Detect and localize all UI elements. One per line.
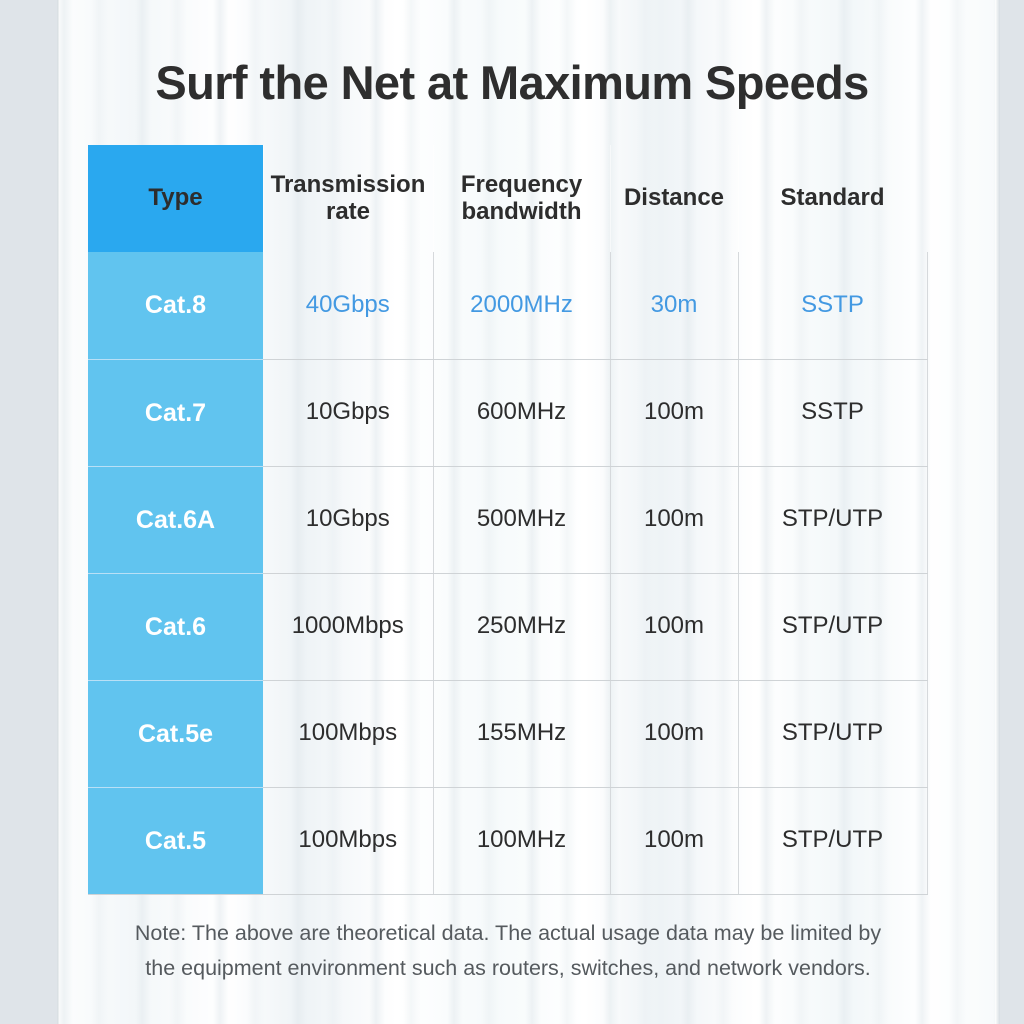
cell-frequency-bandwidth: 250MHz — [433, 573, 610, 680]
footnote: Note: The above are theoretical data. Th… — [88, 916, 928, 987]
column-header-distance: Distance — [610, 145, 738, 252]
cell-transmission-rate: 100Mbps — [263, 680, 433, 787]
cell-distance: 30m — [610, 252, 738, 359]
cell-type: Cat.7 — [88, 359, 263, 466]
cell-type: Cat.6A — [88, 466, 263, 573]
cable-spec-table: Type Transmission rate Frequency bandwid… — [88, 145, 928, 895]
cell-frequency-bandwidth: 2000MHz — [433, 252, 610, 359]
table-row: Cat.5 100Mbps 100MHz 100m STP/UTP — [88, 787, 927, 894]
cell-standard: STP/UTP — [738, 680, 927, 787]
footnote-line-2: the equipment environment such as router… — [88, 951, 928, 986]
table-row: Cat.8 40Gbps 2000MHz 30m SSTP — [88, 252, 927, 359]
cell-distance: 100m — [610, 359, 738, 466]
cell-standard: STP/UTP — [738, 466, 927, 573]
table-row: Cat.6A 10Gbps 500MHz 100m STP/UTP — [88, 466, 927, 573]
cell-distance: 100m — [610, 466, 738, 573]
cell-standard: STP/UTP — [738, 787, 927, 894]
column-header-type: Type — [88, 145, 263, 252]
cell-transmission-rate: 1000Mbps — [263, 573, 433, 680]
cell-distance: 100m — [610, 573, 738, 680]
column-header-transmission-rate-line1: Transmission — [271, 171, 426, 198]
table-header: Type Transmission rate Frequency bandwid… — [88, 145, 927, 252]
cell-frequency-bandwidth: 600MHz — [433, 359, 610, 466]
cell-standard: SSTP — [738, 252, 927, 359]
table-row: Cat.7 10Gbps 600MHz 100m SSTP — [88, 359, 927, 466]
column-header-transmission-rate-line2: rate — [326, 198, 370, 225]
table-body: Cat.8 40Gbps 2000MHz 30m SSTP Cat.7 10Gb… — [88, 252, 927, 894]
cell-frequency-bandwidth: 100MHz — [433, 787, 610, 894]
cell-type: Cat.5 — [88, 787, 263, 894]
cell-type: Cat.5e — [88, 680, 263, 787]
cell-standard: SSTP — [738, 359, 927, 466]
table-row: Cat.6 1000Mbps 250MHz 100m STP/UTP — [88, 573, 927, 680]
cell-frequency-bandwidth: 500MHz — [433, 466, 610, 573]
cell-transmission-rate: 40Gbps — [263, 252, 433, 359]
table-header-row: Type Transmission rate Frequency bandwid… — [88, 145, 927, 252]
cell-standard: STP/UTP — [738, 573, 927, 680]
table-row: Cat.5e 100Mbps 155MHz 100m STP/UTP — [88, 680, 927, 787]
cell-type: Cat.8 — [88, 252, 263, 359]
cell-transmission-rate: 100Mbps — [263, 787, 433, 894]
infographic-page: Surf the Net at Maximum Speeds Type Tran… — [0, 0, 1024, 1024]
cell-transmission-rate: 10Gbps — [263, 466, 433, 573]
panel-right-edge — [995, 0, 1000, 1024]
footnote-line-1: Note: The above are theoretical data. Th… — [88, 916, 928, 951]
column-header-standard: Standard — [738, 145, 927, 252]
column-header-frequency-bandwidth: Frequency bandwidth — [433, 145, 610, 252]
cell-frequency-bandwidth: 155MHz — [433, 680, 610, 787]
column-header-frequency-bandwidth-line2: bandwidth — [462, 198, 582, 225]
cell-distance: 100m — [610, 787, 738, 894]
cell-transmission-rate: 10Gbps — [263, 359, 433, 466]
panel-left-edge — [57, 0, 60, 1024]
page-title: Surf the Net at Maximum Speeds — [0, 55, 1024, 110]
cell-distance: 100m — [610, 680, 738, 787]
column-header-transmission-rate: Transmission rate — [263, 145, 433, 252]
cell-type: Cat.6 — [88, 573, 263, 680]
column-header-frequency-bandwidth-line1: Frequency — [461, 171, 582, 198]
